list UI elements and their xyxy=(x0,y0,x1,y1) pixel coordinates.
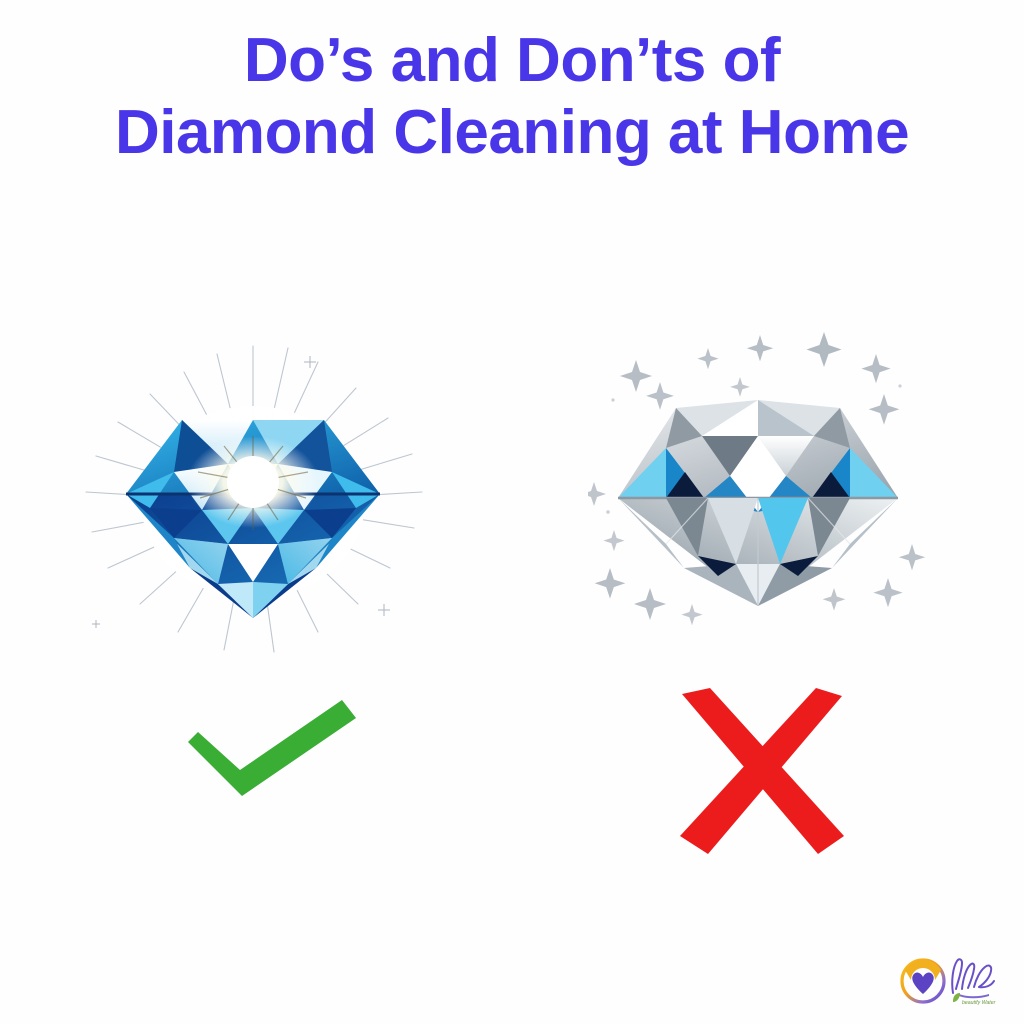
diamond-dull-caption: Greyish silver diamond surrounded by spa… xyxy=(588,630,589,631)
center-glint xyxy=(187,436,319,530)
logo-script-underline xyxy=(959,994,989,998)
logo-heart xyxy=(912,973,933,994)
check-mark-icon: Do xyxy=(182,698,362,798)
check-mark-label: Do xyxy=(182,798,183,799)
gem-body xyxy=(618,400,898,606)
diamond-dull-illustration: Greyish silver diamond surrounded by spa… xyxy=(588,330,928,630)
title-line-1: Do’s and Don’ts of xyxy=(0,28,1024,94)
gem-body xyxy=(126,420,380,618)
logo-tagline-text: beautify Water xyxy=(893,1013,894,1014)
cross-mark-icon: Don’t xyxy=(672,686,852,858)
brand-logo[interactable]: beautify Water beautify Water xyxy=(893,945,1005,1013)
logo-leaf xyxy=(953,993,960,1002)
poster-canvas: Do’s and Don’ts of Diamond Cleaning at H… xyxy=(0,0,1024,1024)
title-line-2: Diamond Cleaning at Home xyxy=(0,100,1024,166)
diamond-clean-illustration: Brilliant blue diamond with radiating li… xyxy=(78,332,428,662)
logo-tagline: beautify Water xyxy=(962,1000,996,1006)
plus-sparkles xyxy=(92,356,390,628)
diamond-clean-caption: Brilliant blue diamond with radiating li… xyxy=(78,662,79,663)
logo-calligraphy xyxy=(952,959,994,993)
light-rays xyxy=(86,346,422,652)
poster-title: Do’s and Don’ts of Diamond Cleaning at H… xyxy=(0,28,1024,167)
sparkle-stars xyxy=(588,332,925,625)
cross-mark-label: Don’t xyxy=(672,858,673,859)
